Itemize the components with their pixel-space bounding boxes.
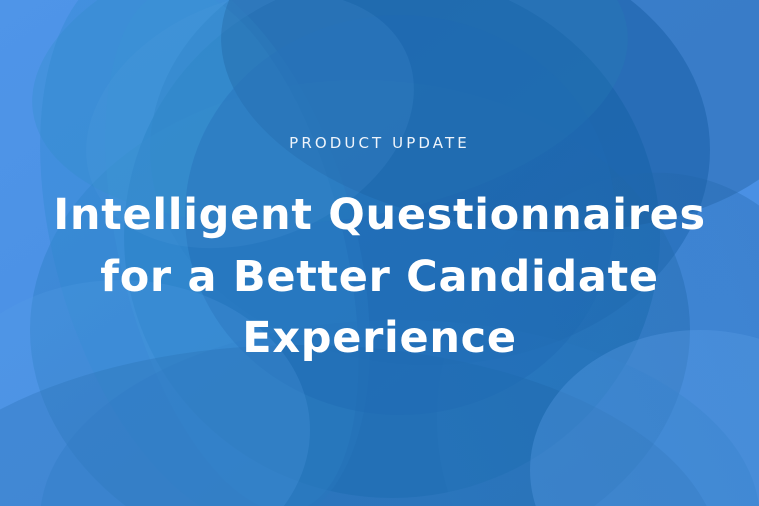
headline-line-3: Experience (30, 308, 730, 370)
banner-content: PRODUCT UPDATE Intelligent Questionnaire… (0, 0, 759, 506)
page-title: Intelligent Questionnaires for a Better … (30, 185, 730, 371)
product-update-banner: PRODUCT UPDATE Intelligent Questionnaire… (0, 0, 759, 506)
headline-line-1: Intelligent Questionnaires (30, 185, 730, 247)
headline-line-2: for a Better Candidate (30, 247, 730, 309)
eyebrow-label: PRODUCT UPDATE (289, 136, 470, 151)
